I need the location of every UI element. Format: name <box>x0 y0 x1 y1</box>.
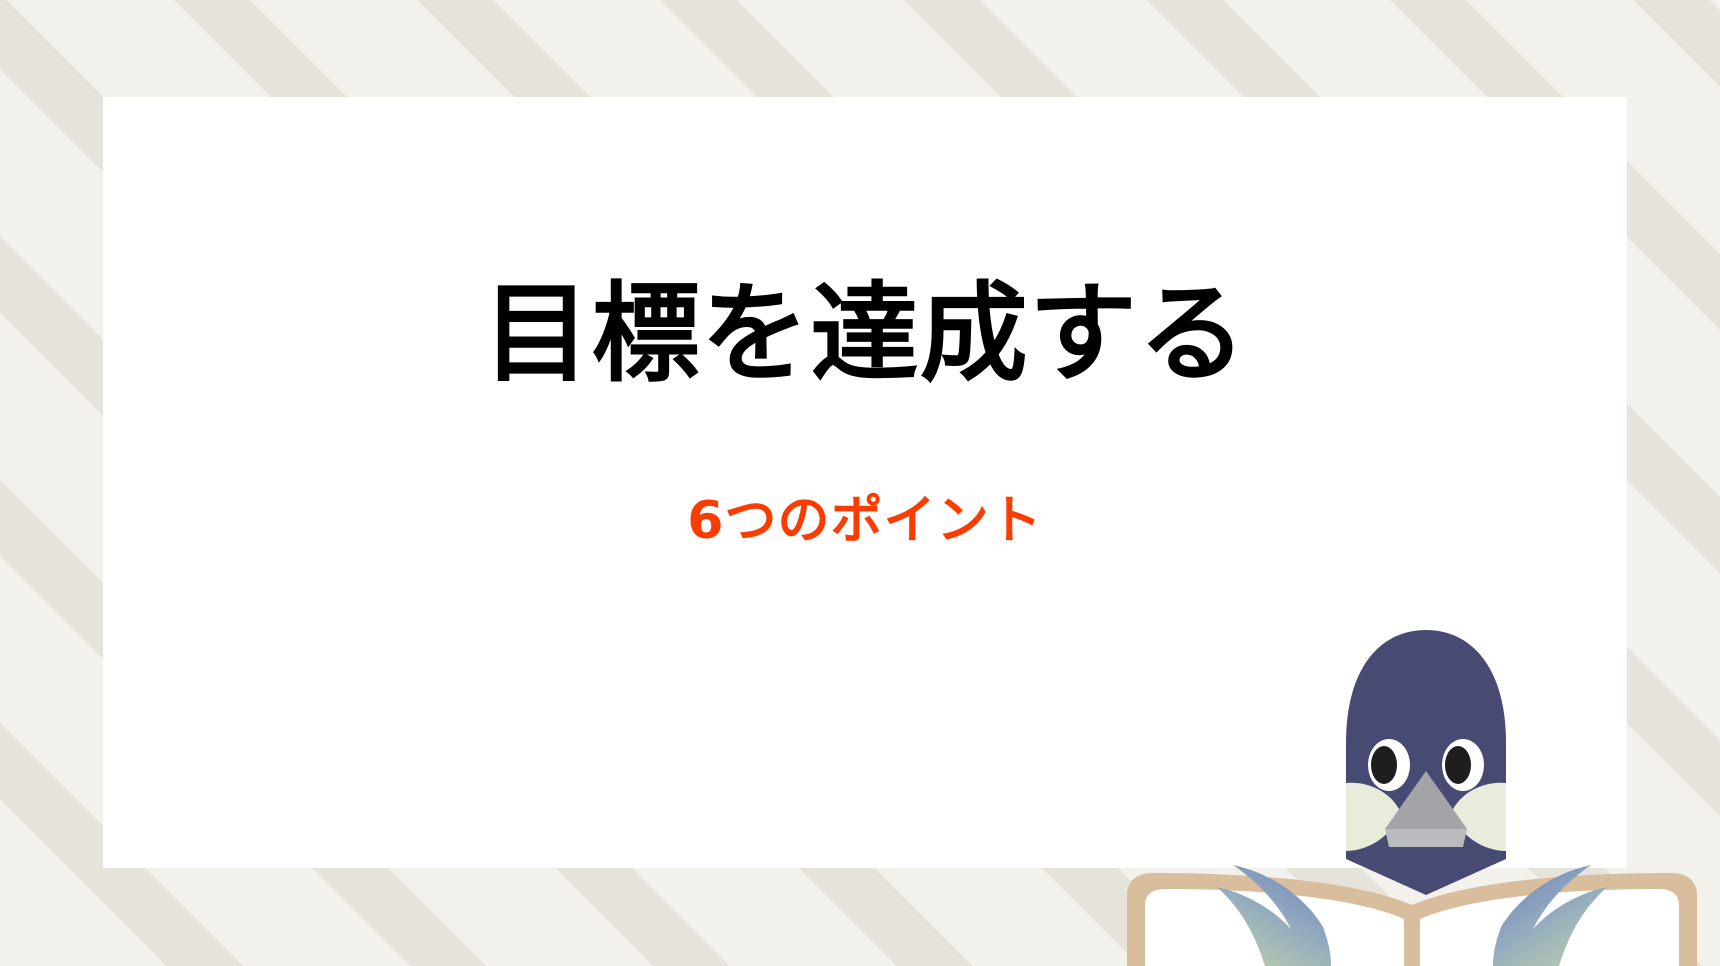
content-card: 目標を達成する 6つのポイント <box>103 97 1627 868</box>
slide-text-block: 目標を達成する 6つのポイント <box>103 97 1627 868</box>
slide-canvas: 目標を達成する 6つのポイント <box>0 0 1720 966</box>
page-subtitle: 6つのポイント <box>687 490 1042 552</box>
page-title: 目標を達成する <box>482 275 1247 396</box>
